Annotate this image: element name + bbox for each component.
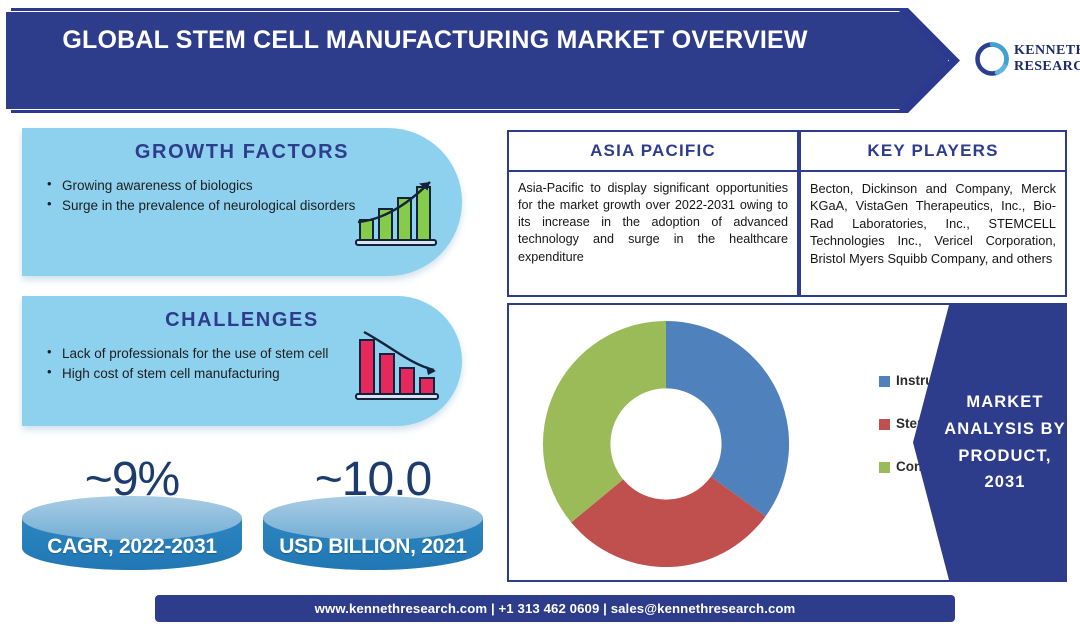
- list-item: High cost of stem cell manufacturing: [40, 364, 370, 383]
- key-players-body: Becton, Dickinson and Company, Merck KGa…: [801, 172, 1065, 267]
- header-banner: GLOBAL STEM CELL MANUFACTURING MARKET OV…: [5, 8, 960, 113]
- donut-segment-consumables: [543, 321, 666, 522]
- banner-label: MARKET ANALYSIS BY PRODUCT, 2031: [913, 389, 1067, 496]
- list-item: Surge in the prevalence of neurological …: [40, 196, 370, 215]
- growth-factors-title: GROWTH FACTORS: [22, 128, 462, 164]
- legend-swatch-consumables: [879, 462, 890, 473]
- footer-contact-bar[interactable]: www.kennethresearch.com | +1 313 462 060…: [155, 595, 955, 622]
- logo-line-2: RESEARCH: [1014, 59, 1080, 75]
- list-item: Lack of professionals for the use of ste…: [40, 344, 370, 363]
- logo-wordmark: KENNETH RESEARCH: [1014, 43, 1080, 74]
- challenges-list: Lack of professionals for the use of ste…: [40, 344, 370, 383]
- circular-swoosh-icon: [975, 42, 1009, 76]
- stat-label: CAGR, 2022-2031: [17, 535, 247, 559]
- asia-pacific-title: ASIA PACIFIC: [509, 132, 797, 172]
- legend-swatch-stem-cell-lines: [879, 419, 890, 430]
- donut-chart: [537, 315, 795, 578]
- key-players-title: KEY PLAYERS: [801, 132, 1065, 172]
- stat-value: ~10.0: [258, 452, 488, 507]
- stat-cylinder-usd: ~10.0 USD BILLION, 2021: [258, 456, 488, 576]
- falling-bar-chart-icon: [354, 330, 440, 404]
- list-item: Growing awareness of biologics: [40, 176, 370, 195]
- asia-pacific-box: ASIA PACIFIC Asia-Pacific to display sig…: [507, 130, 799, 297]
- footer-text: www.kennethresearch.com | +1 313 462 060…: [315, 601, 796, 616]
- donut-segment-instruments: [666, 321, 789, 516]
- stat-label: USD BILLION, 2021: [258, 535, 488, 559]
- logo-line-1: KENNETH: [1014, 43, 1080, 59]
- legend-swatch-instruments: [879, 376, 890, 387]
- infographic-page: GLOBAL STEM CELL MANUFACTURING MARKET OV…: [0, 0, 1080, 636]
- growth-factors-list: Growing awareness of biologics Surge in …: [40, 176, 370, 215]
- kenneth-research-logo[interactable]: KENNETH RESEARCH: [975, 33, 1075, 85]
- page-title: GLOBAL STEM CELL MANUFACTURING MARKET OV…: [25, 24, 845, 57]
- challenges-title: CHALLENGES: [22, 296, 462, 332]
- growth-factors-card: GROWTH FACTORS Growing awareness of biol…: [22, 128, 462, 276]
- stat-value: ~9%: [17, 452, 247, 507]
- challenges-card: CHALLENGES Lack of professionals for the…: [22, 296, 462, 426]
- key-players-box: KEY PLAYERS Becton, Dickinson and Compan…: [799, 130, 1067, 297]
- rising-bar-chart-icon: [354, 176, 440, 250]
- asia-pacific-body: Asia-Pacific to display significant oppo…: [509, 172, 797, 266]
- stat-cylinder-cagr: ~9% CAGR, 2022-2031: [17, 456, 247, 576]
